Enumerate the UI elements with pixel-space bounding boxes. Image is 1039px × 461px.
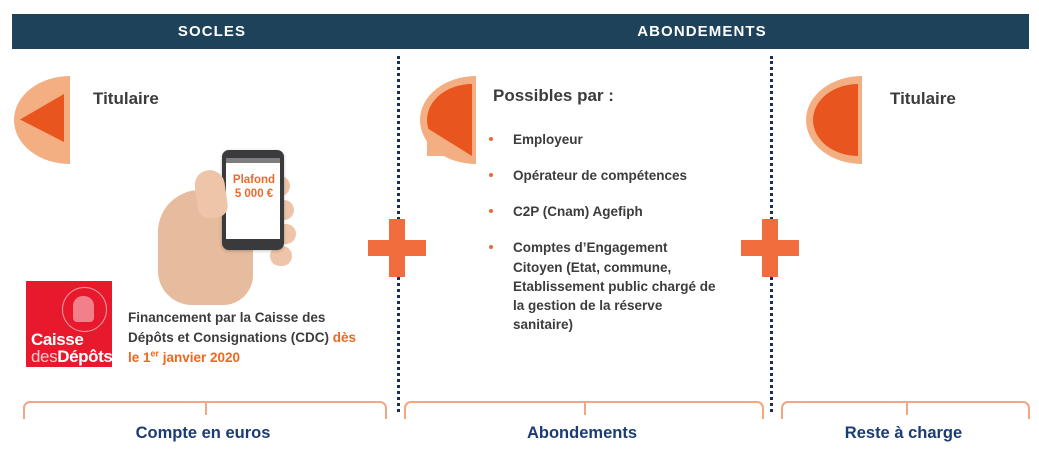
- header-segment-socles: SOCLES: [112, 14, 312, 49]
- list-item: C2P (Cnam) Agefiph: [489, 202, 719, 221]
- financing-accent-ordinal: er: [151, 348, 159, 358]
- list-item-label: Employeur: [513, 130, 583, 149]
- right-panel-title: Titulaire: [890, 89, 956, 109]
- list-item: Opérateur de compétences: [489, 166, 719, 185]
- phone-screen-text: Plafond 5 000 €: [229, 173, 279, 202]
- phone-in-hand-image: Plafond 5 000 €: [150, 140, 310, 300]
- plus-operator-2: [741, 219, 799, 277]
- plus-vertical-bar: [762, 219, 778, 277]
- plafond-amount: 5 000 €: [229, 187, 279, 201]
- list-item-label: Comptes d’Engagement Citoyen (Etat, comm…: [513, 238, 719, 334]
- header-segment-abondements: ABONDEMENTS: [572, 14, 832, 49]
- three-quarter-pie-icon: [420, 76, 476, 164]
- brace-reste-a-charge: [781, 401, 1030, 419]
- financing-caption-plain: Financement par la Caisse des Dépôts et …: [128, 310, 333, 345]
- smartphone-body: Plafond 5 000 €: [222, 150, 284, 250]
- logo-word-depots: Dépôts: [57, 347, 112, 366]
- bullet-dot-icon: [489, 209, 493, 213]
- caisse-des-depots-logo: Caisse desDépôts: [26, 281, 112, 367]
- abondements-bullet-list: Employeur Opérateur de compétences C2P (…: [489, 130, 719, 351]
- bullet-dot-icon: [489, 245, 493, 249]
- crest-seal-icon: [62, 287, 107, 332]
- plus-vertical-bar: [389, 219, 405, 277]
- header-bar: SOCLES ABONDEMENTS: [12, 14, 1029, 49]
- financing-caption: Financement par la Caisse des Dépôts et …: [128, 308, 368, 367]
- logo-word-caisse: Caisse: [31, 331, 83, 348]
- plus-operator-1: [368, 219, 426, 277]
- phone-screen: Plafond 5 000 €: [226, 163, 280, 239]
- left-panel-title: Titulaire: [93, 89, 159, 109]
- brace-abondements: [404, 401, 764, 419]
- list-item: Comptes d’Engagement Citoyen (Etat, comm…: [489, 238, 719, 334]
- bottom-label-abondements: Abondements: [404, 424, 760, 443]
- list-item-label: C2P (Cnam) Agefiph: [513, 202, 643, 221]
- slide-canvas: SOCLES ABONDEMENTS Titulaire Plafond 5 0…: [0, 0, 1039, 461]
- brace-compte-en-euros: [23, 401, 387, 419]
- bottom-label-reste-a-charge: Reste à charge: [781, 424, 1026, 443]
- full-pie-icon: [806, 76, 862, 164]
- list-item: Employeur: [489, 130, 719, 149]
- logo-word-des-depots: desDépôts: [31, 348, 112, 365]
- brace-nib: [906, 402, 908, 415]
- list-item-label: Opérateur de compétences: [513, 166, 687, 185]
- bullet-dot-icon: [489, 173, 493, 177]
- brace-nib: [205, 402, 207, 415]
- middle-panel-title: Possibles par :: [493, 86, 614, 106]
- financing-accent-tail: janvier 2020: [159, 350, 240, 365]
- logo-word-des: des: [31, 347, 57, 366]
- plafond-label: Plafond: [229, 173, 279, 187]
- bullet-dot-icon: [489, 137, 493, 141]
- bottom-label-compte-en-euros: Compte en euros: [23, 424, 383, 443]
- brace-nib: [584, 402, 586, 415]
- quarter-pie-icon: [14, 76, 70, 164]
